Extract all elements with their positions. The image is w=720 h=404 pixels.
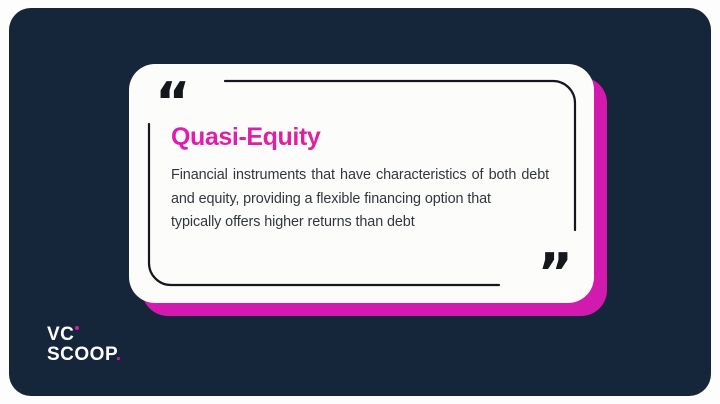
quote-card-content: Quasi-Equity Financial instruments that … — [171, 124, 549, 234]
dark-panel: “ ” Quasi-Equity Financial instruments t… — [9, 8, 711, 396]
screenshot-canvas: “ ” Quasi-Equity Financial instruments t… — [0, 0, 720, 404]
quote-body: Financial instruments that have characte… — [171, 164, 549, 234]
quote-title: Quasi-Equity — [171, 124, 549, 150]
quote-body-last-line: typically offers higher returns than deb… — [171, 211, 549, 234]
logo-line-scoop: SCOOP. — [47, 345, 121, 366]
logo-line-vc: VC — [47, 325, 121, 346]
opening-quote-icon: “ — [155, 76, 190, 130]
logo-period: . — [116, 344, 122, 365]
logo-text-scoop: SCOOP — [47, 344, 116, 365]
logo-superscript-dot-icon — [75, 326, 79, 330]
vcscoop-logo[interactable]: VC SCOOP. — [47, 325, 121, 366]
closing-quote-icon: ” — [538, 247, 573, 301]
quote-body-text: Financial instruments that have characte… — [171, 167, 549, 206]
quote-card-group: “ ” Quasi-Equity Financial instruments t… — [129, 64, 607, 316]
logo-text-vc: VC — [47, 324, 74, 345]
quote-card: “ ” Quasi-Equity Financial instruments t… — [129, 64, 594, 303]
